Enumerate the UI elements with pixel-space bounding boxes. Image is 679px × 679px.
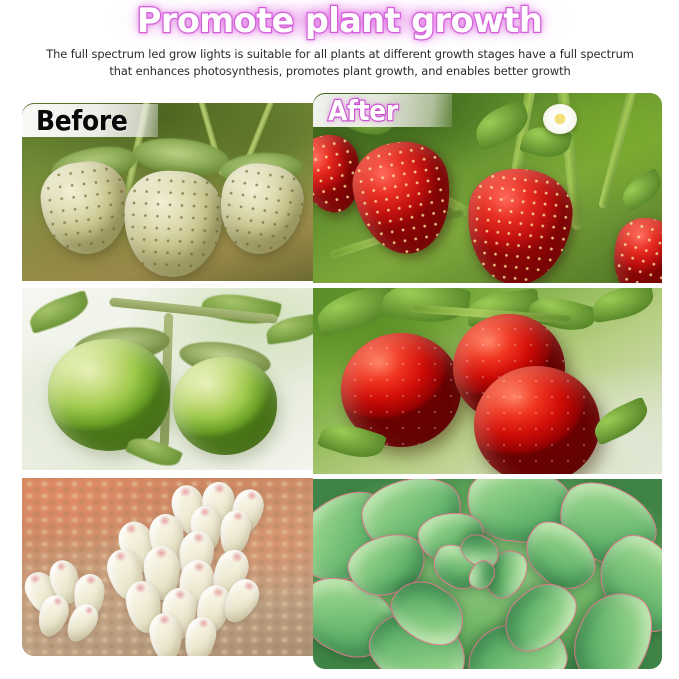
page-title: Promote plant growth bbox=[0, 1, 679, 41]
green-tomato-scene bbox=[22, 288, 313, 470]
red-tomato-scene bbox=[313, 288, 662, 474]
before-succulent-image bbox=[22, 478, 313, 656]
product-infographic: Promote plant growth The full spectrum l… bbox=[0, 0, 679, 679]
before-label-text: Before bbox=[36, 104, 128, 136]
header-block: Promote plant growth The full spectrum l… bbox=[0, 0, 679, 92]
after-tomatoes-image bbox=[313, 288, 662, 474]
after-label-ribbon: After bbox=[313, 94, 452, 127]
after-succulent-image bbox=[313, 479, 662, 669]
before-column bbox=[22, 103, 313, 656]
page-subtitle: The full spectrum led grow lights is sui… bbox=[44, 46, 636, 79]
green-succulent-scene bbox=[313, 479, 662, 669]
after-label-text: After bbox=[328, 94, 398, 126]
before-tomatoes-image bbox=[22, 288, 313, 470]
before-label-ribbon: Before bbox=[22, 104, 158, 137]
pale-succulent-scene bbox=[22, 478, 313, 656]
after-column bbox=[313, 93, 662, 669]
